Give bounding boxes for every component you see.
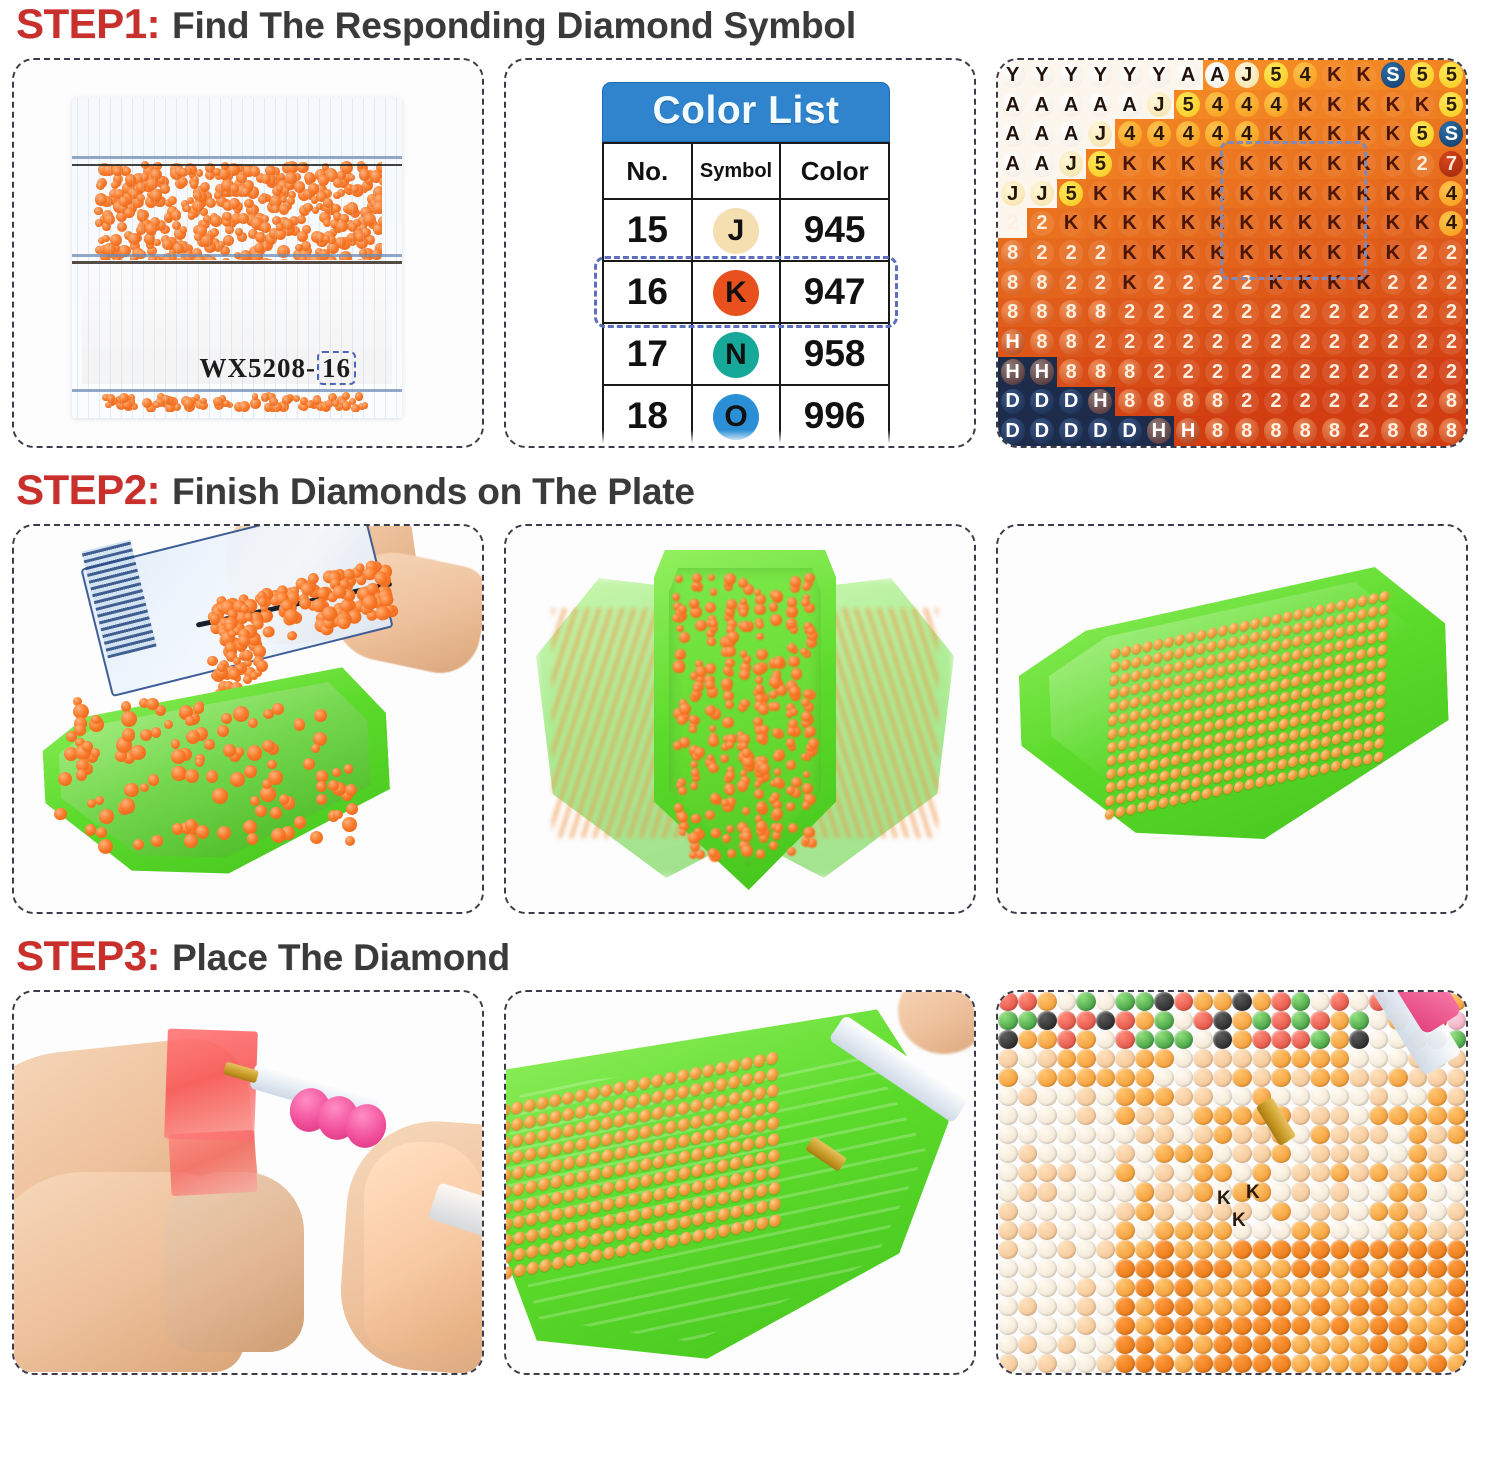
- canvas-diamond: [1213, 1049, 1233, 1068]
- symbol-cell: 2: [1174, 268, 1203, 298]
- pink-wax-fold: [168, 1130, 257, 1196]
- canvas-diamond: [1271, 1202, 1291, 1221]
- diamond-bead: [691, 1147, 703, 1161]
- symbol-cell: 2: [1261, 357, 1290, 387]
- diamond-bead: [705, 810, 715, 820]
- symbol-cell: H: [998, 327, 1027, 357]
- canvas-diamond: [1291, 992, 1311, 1011]
- diamond-bead: [1117, 765, 1127, 777]
- diamond-bead: [653, 1171, 665, 1185]
- canvas-diamond: [1076, 1354, 1096, 1373]
- canvas-diamond: [1388, 1106, 1408, 1125]
- symbol-letter: K: [1298, 243, 1312, 263]
- symbol-letter: 4: [1300, 65, 1311, 85]
- diamond-bead: [550, 1158, 562, 1172]
- symbol-cell: D: [1086, 416, 1115, 446]
- symbol-cell: 8: [1144, 387, 1173, 417]
- diamond-bead: [1126, 803, 1136, 815]
- symbol-letter: K: [1122, 154, 1136, 174]
- diamond-bead: [769, 602, 779, 612]
- symbol-cell: S: [1378, 60, 1407, 90]
- symbol-cell: J: [998, 179, 1027, 209]
- diamond-bead: [1191, 790, 1201, 802]
- diamond-bead: [759, 725, 769, 735]
- diamond-bead: [1312, 671, 1322, 683]
- symbol-cell: 2: [1408, 298, 1437, 328]
- canvas-diamond: [1018, 1163, 1038, 1182]
- canvas-diamond: [1193, 1163, 1213, 1182]
- diamond-bead: [590, 1199, 602, 1213]
- diamond-bead: [1374, 737, 1384, 749]
- canvas-diamond: [1349, 1259, 1369, 1278]
- diamond-bead: [1332, 706, 1342, 718]
- diamond-bead: [1346, 610, 1356, 622]
- symbol-cell: A: [1027, 90, 1056, 120]
- symbol-cell: 8: [1174, 387, 1203, 417]
- diamond-bead: [703, 1112, 715, 1126]
- symbol-letter: J: [1241, 65, 1252, 85]
- symbol-cell: 4: [1437, 208, 1466, 238]
- diamond-bead: [1105, 808, 1115, 820]
- diamond-bead: [1364, 713, 1374, 725]
- diamond-bead: [1192, 749, 1202, 761]
- canvas-diamond: [1252, 1278, 1272, 1297]
- diamond-bead: [1377, 644, 1387, 656]
- symbol-cell: K: [1320, 60, 1349, 90]
- symbol-cell: 2: [1203, 268, 1232, 298]
- symbol-cell: D: [1057, 387, 1086, 417]
- diamond-bead: [1293, 608, 1303, 620]
- diamond-bead: [693, 1228, 705, 1242]
- diamond-bead: [577, 1218, 589, 1232]
- symbol-letter: 2: [1417, 332, 1428, 352]
- diamond-bead: [1193, 709, 1203, 721]
- canvas-diamond: [1096, 1163, 1116, 1182]
- diamond-bead: [678, 1150, 690, 1164]
- canvas-diamond: [1076, 1030, 1096, 1049]
- canvas-diamond: [998, 1182, 1018, 1201]
- symbol-cell: K: [1349, 119, 1378, 149]
- canvas-diamond: [1037, 1335, 1057, 1354]
- diamond-bead: [1185, 645, 1195, 657]
- canvas-diamond: [1310, 1049, 1330, 1068]
- symbol-cell: K: [1115, 238, 1144, 268]
- diamond-bead: [741, 845, 753, 857]
- diamond-bead: [588, 1102, 600, 1116]
- diamond-bead: [346, 803, 358, 815]
- diamond-bead: [672, 593, 680, 601]
- step-3-tag: STEP3:: [16, 932, 160, 980]
- color-list-row[interactable]: 17N958: [603, 323, 889, 385]
- canvas-diamond: [1115, 1202, 1135, 1221]
- diamond-bead: [613, 1097, 625, 1111]
- diamond-bead: [550, 1109, 562, 1123]
- canvas-diamond: [998, 1221, 1018, 1240]
- canvas-diamond: [1232, 1087, 1252, 1106]
- symbol-cell: K: [1320, 149, 1349, 179]
- symbol-letter: K: [1386, 154, 1400, 174]
- diamond-bead: [1159, 770, 1169, 782]
- diamond-bead: [148, 774, 159, 785]
- canvas-diamond: [1408, 1125, 1428, 1144]
- canvas-diamond: [1349, 1182, 1369, 1201]
- canvas-diamond: [1076, 1182, 1096, 1201]
- symbol-cell: 8: [1437, 387, 1466, 417]
- canvas-diamond: [1193, 1068, 1213, 1087]
- symbol-letter: 2: [1387, 273, 1398, 293]
- canvas-diamond: [1213, 1125, 1233, 1144]
- diamond-bead: [665, 1103, 677, 1117]
- diamond-bead: [652, 1122, 664, 1136]
- canvas-diamond: [1154, 1316, 1174, 1335]
- diamond-bead: [601, 1148, 613, 1162]
- canvas-diamond: [1115, 1354, 1135, 1373]
- symbol-cell: K: [1261, 268, 1290, 298]
- color-list-header: Color List: [602, 82, 890, 142]
- diamond-bead: [525, 1147, 537, 1161]
- pour-beads-photo: [14, 526, 482, 912]
- diamond-bead: [679, 1215, 691, 1229]
- canvas-diamond: [1135, 992, 1155, 1011]
- diamond-bead: [1260, 629, 1270, 641]
- diamond-bead: [704, 1145, 716, 1159]
- diamond-bead: [627, 1160, 639, 1174]
- diamond-bead: [1128, 750, 1138, 762]
- canvas-diamond: [1076, 1049, 1096, 1068]
- diamond-bead: [1344, 691, 1354, 703]
- canvas-diamond: [1076, 1278, 1096, 1297]
- canvas-diamond: [1447, 1354, 1467, 1373]
- canvas-diamond: [1310, 1087, 1330, 1106]
- diamond-bead: [730, 1172, 742, 1186]
- step-3-panels: K K K: [0, 990, 1500, 1375]
- diamond-bead: [255, 805, 267, 817]
- diamond-bead: [742, 807, 750, 815]
- diamond-bead: [705, 705, 716, 716]
- diamond-bead: [1259, 682, 1269, 694]
- canvas-diamond: [998, 1335, 1018, 1354]
- diamond-bead: [1127, 790, 1137, 802]
- canvas-diamond: [1115, 1259, 1135, 1278]
- diamond-bead: [95, 796, 104, 805]
- diamond-bead: [1343, 717, 1353, 729]
- canvas-diamond: [1349, 1297, 1369, 1316]
- symbol-cell: K: [1378, 208, 1407, 238]
- diamond-bead: [1105, 795, 1115, 807]
- symbol-letter: 2: [1183, 302, 1194, 322]
- symbol-letter: 4: [1241, 95, 1252, 115]
- diamond-bead: [693, 685, 701, 693]
- symbol-letter: 2: [1124, 302, 1135, 322]
- diamond-bead: [754, 589, 761, 596]
- symbol-letter: 4: [1446, 213, 1457, 233]
- diamond-bead: [1267, 747, 1277, 759]
- canvas-diamond: [998, 1278, 1018, 1297]
- color-list-row[interactable]: 15J945: [603, 199, 889, 261]
- symbol-letter: A: [1005, 154, 1019, 174]
- canvas-diamond: [1154, 1049, 1174, 1068]
- symbol-letter: 5: [1270, 65, 1281, 85]
- symbol-letter: 8: [1095, 362, 1106, 382]
- bag-seal-line: [72, 389, 402, 392]
- diamond-bead: [171, 749, 186, 764]
- diamond-bead: [538, 1193, 550, 1207]
- canvas-diamond: [1154, 1297, 1174, 1316]
- diamond-bead: [715, 1077, 727, 1091]
- symbol-letter: K: [1386, 95, 1400, 115]
- diamond-bead: [774, 768, 782, 776]
- diamond-bead: [1249, 644, 1259, 656]
- diamond-bead: [723, 666, 731, 674]
- canvas-diamond: [1018, 1182, 1038, 1201]
- diamond-bead: [1163, 663, 1173, 675]
- symbol-dot: J: [713, 208, 759, 254]
- fingertip: [898, 992, 974, 1054]
- symbol-letter: 2: [1446, 243, 1457, 263]
- color-list-table-wrap: Color List No. Symbol Color 15J94516K947…: [602, 82, 890, 446]
- diamond-bead: [1321, 735, 1331, 747]
- diamond-bead: [716, 1126, 728, 1140]
- canvas-diamond: [1369, 1163, 1389, 1182]
- diamond-bead: [270, 807, 282, 819]
- symbol-cell: 4: [1261, 90, 1290, 120]
- canvas-diamond: [998, 1049, 1018, 1068]
- symbol-cell: D: [998, 416, 1027, 446]
- diamond-bead: [788, 656, 800, 668]
- symbol-cell: D: [1027, 416, 1056, 446]
- symbol-letter: 2: [1417, 154, 1428, 174]
- symbol-cell: Y: [1115, 60, 1144, 90]
- canvas-diamond: [1076, 1106, 1096, 1125]
- diamond-bead: [564, 1188, 576, 1202]
- diamond-bead: [1195, 669, 1205, 681]
- canvas-diamond: [1096, 1221, 1116, 1240]
- diamond-bead: [247, 833, 259, 845]
- diamond-bead: [85, 824, 97, 836]
- diamond-bead: [1174, 647, 1184, 659]
- symbol-letter: K: [1181, 243, 1195, 263]
- symbol-letter: J: [1095, 124, 1106, 144]
- symbol-cell: A: [1027, 119, 1056, 149]
- diamond-bead: [294, 816, 307, 829]
- symbol-letter: 2: [1036, 213, 1047, 233]
- canvas-diamond: [1349, 1221, 1369, 1240]
- canvas-diamond: [1154, 1011, 1174, 1030]
- symbol-cell: J: [1086, 119, 1115, 149]
- canvas-diamond: [1291, 1335, 1311, 1354]
- canvas-diamond: [1427, 1202, 1447, 1221]
- canvas-diamond: [1427, 1106, 1447, 1125]
- diamond-bead: [1259, 669, 1269, 681]
- canvas-diamond: [1330, 1011, 1350, 1030]
- symbol-cell: K: [1057, 208, 1086, 238]
- symbol-cell: H: [1027, 357, 1056, 387]
- diamond-bead: [768, 1149, 780, 1163]
- diamond-bead: [616, 1227, 628, 1241]
- symbol-letter: 2: [1095, 332, 1106, 352]
- diamond-bead: [1331, 746, 1341, 758]
- canvas-diamond: [1349, 1068, 1369, 1087]
- diamond-bead: [1357, 608, 1367, 620]
- symbol-cell: 2: [1437, 357, 1466, 387]
- panel-symbol-grid: YYYYYYAAJ54KKS55AAAAAJ5444KKKKK5AAAJ4444…: [996, 58, 1468, 448]
- canvas-diamond: [998, 1354, 1018, 1373]
- diamond-bead: [1278, 745, 1288, 757]
- diamond-bead: [716, 1110, 728, 1124]
- canvas-diamond: [1135, 1354, 1155, 1373]
- symbol-cell: Y: [1057, 60, 1086, 90]
- diamond-bead: [230, 772, 245, 787]
- diamond-bead: [730, 1156, 742, 1170]
- diamond-bead: [730, 1188, 742, 1202]
- symbol-letter: 2: [1387, 302, 1398, 322]
- canvas-diamond: [1447, 1182, 1467, 1201]
- canvas-diamond: [1135, 1087, 1155, 1106]
- canvas-diamond: [1310, 1240, 1330, 1259]
- symbol-letter: D: [1064, 421, 1078, 441]
- diamond-bead: [1248, 684, 1258, 696]
- step-heading-3: STEP3: Place The Diamond: [0, 932, 1500, 990]
- canvas-diamond: [998, 1163, 1018, 1182]
- canvas-diamond: [1057, 1106, 1077, 1125]
- canvas-diamond: [1174, 1163, 1194, 1182]
- diamond-bead: [1108, 701, 1118, 713]
- diamond-bead: [1108, 714, 1118, 726]
- diamond-bead: [1228, 635, 1238, 647]
- diamond-bead: [603, 1213, 615, 1227]
- symbol-letter: 2: [1446, 302, 1457, 322]
- canvas-diamond: [1135, 1068, 1155, 1087]
- diamond-bead: [1107, 741, 1117, 753]
- diamond-bead: [303, 758, 315, 770]
- canvas-diamond: [1447, 1125, 1467, 1144]
- diamond-bead: [602, 1197, 614, 1211]
- canvas-diamond: [1369, 1030, 1389, 1049]
- canvas-diamond: [1252, 1354, 1272, 1373]
- canvas-diamond: [1018, 1221, 1038, 1240]
- diamond-bead: [133, 839, 145, 851]
- diamond-bead: [1121, 658, 1131, 670]
- canvas-diamond: [1369, 1240, 1389, 1259]
- diamond-bead: [565, 1253, 577, 1267]
- diamond-bead: [677, 1068, 689, 1082]
- canvas-diamond: [1232, 1144, 1252, 1163]
- diamond-bead: [223, 744, 236, 757]
- diamond-bead: [1310, 724, 1320, 736]
- symbol-letter: 8: [1124, 362, 1135, 382]
- diamond-bead: [1325, 615, 1335, 627]
- symbol-letter: 2: [1417, 362, 1428, 382]
- symbol-cell: 5: [1086, 149, 1115, 179]
- diamond-bead: [588, 1086, 600, 1100]
- canvas-diamond: [1193, 1316, 1213, 1335]
- canvas-diamond: [1408, 1182, 1428, 1201]
- diamond-bead: [1137, 788, 1147, 800]
- step-heading-2: STEP2: Finish Diamonds on The Plate: [0, 466, 1500, 524]
- symbol-cell: 2: [1408, 238, 1437, 268]
- symbol-letter: H: [1093, 391, 1107, 411]
- diamond-bead: [1202, 761, 1212, 773]
- symbol-cell: H: [1144, 416, 1173, 446]
- symbol-letter: K: [1298, 273, 1312, 293]
- canvas-diamond: [1057, 1354, 1077, 1373]
- canvas-diamond: [1388, 1202, 1408, 1221]
- color-list-row[interactable]: 16K947: [603, 261, 889, 323]
- symbol-cell: 2: [1144, 298, 1173, 328]
- step-1-title: Find The Responding Diamond Symbol: [172, 5, 856, 47]
- symbol-cell: 2: [1232, 357, 1261, 387]
- symbol-letter: K: [1356, 65, 1370, 85]
- diamond-bead: [563, 1123, 575, 1137]
- diamond-bead: [1160, 756, 1170, 768]
- panel-aligned-tray: [996, 524, 1468, 914]
- diamond-bead: [1311, 711, 1321, 723]
- canvas-diamond: [1037, 1354, 1057, 1373]
- diamond-bead: [576, 1137, 588, 1151]
- canvas-diamond: [1018, 1125, 1038, 1144]
- symbol-cell: 2: [1291, 327, 1320, 357]
- symbol-letter: 2: [1387, 391, 1398, 411]
- symbol-cell: 2: [1057, 268, 1086, 298]
- diamond-bead: [1185, 658, 1195, 670]
- bag-seal-line: [72, 164, 402, 166]
- symbol-letter: Y: [1035, 65, 1048, 85]
- symbol-cell: 2: [1086, 327, 1115, 357]
- symbol-letter: K: [1269, 154, 1283, 174]
- canvas-diamond: [1291, 1144, 1311, 1163]
- canvas-diamond: [1135, 1182, 1155, 1201]
- diamond-bead: [1334, 653, 1344, 665]
- canvas-diamond: [1291, 1202, 1311, 1221]
- canvas-diamond: [1252, 1011, 1272, 1030]
- canvas-diamond: [1310, 1354, 1330, 1373]
- symbol-cell: 2: [1174, 357, 1203, 387]
- canvas-diamond: [1349, 1030, 1369, 1049]
- diamond-bead: [1207, 640, 1217, 652]
- diamond-bead: [1152, 665, 1162, 677]
- diamond-bead: [1182, 738, 1192, 750]
- symbol-letter: 2: [1241, 362, 1252, 382]
- canvas-diamond: [1408, 1259, 1428, 1278]
- diamond-bead: [1224, 743, 1234, 755]
- symbol-letter: 8: [1153, 391, 1164, 411]
- diamond-bead: [1277, 758, 1287, 770]
- diamond-bead: [228, 630, 236, 638]
- diamond-bead: [707, 638, 716, 647]
- symbol-cell: 4: [1232, 90, 1261, 120]
- diamond-bead: [256, 660, 269, 673]
- symbol-cell: K: [1203, 179, 1232, 209]
- diamond-bead: [279, 794, 289, 804]
- canvas-diamond: [1408, 1278, 1428, 1297]
- symbol-cell: 8: [1232, 416, 1261, 446]
- diamond-bead: [1354, 688, 1364, 700]
- bag-seal-line: [72, 156, 402, 159]
- canvas-diamond: [1271, 1259, 1291, 1278]
- diamond-bead: [705, 663, 716, 674]
- diamond-bead: [537, 1112, 549, 1126]
- symbol-letter: D: [1035, 391, 1049, 411]
- diamond-bead: [640, 1157, 652, 1171]
- canvas-diamond: [1310, 1259, 1330, 1278]
- diamond-bead: [243, 820, 257, 834]
- symbol-letter: 8: [1241, 421, 1252, 441]
- symbol-cell: 8: [1057, 357, 1086, 387]
- symbol-cell: S: [1437, 119, 1466, 149]
- canvas-diamond: [1271, 1144, 1291, 1163]
- diamond-bead: [1119, 712, 1129, 724]
- canvas-diamond: [1037, 992, 1057, 1011]
